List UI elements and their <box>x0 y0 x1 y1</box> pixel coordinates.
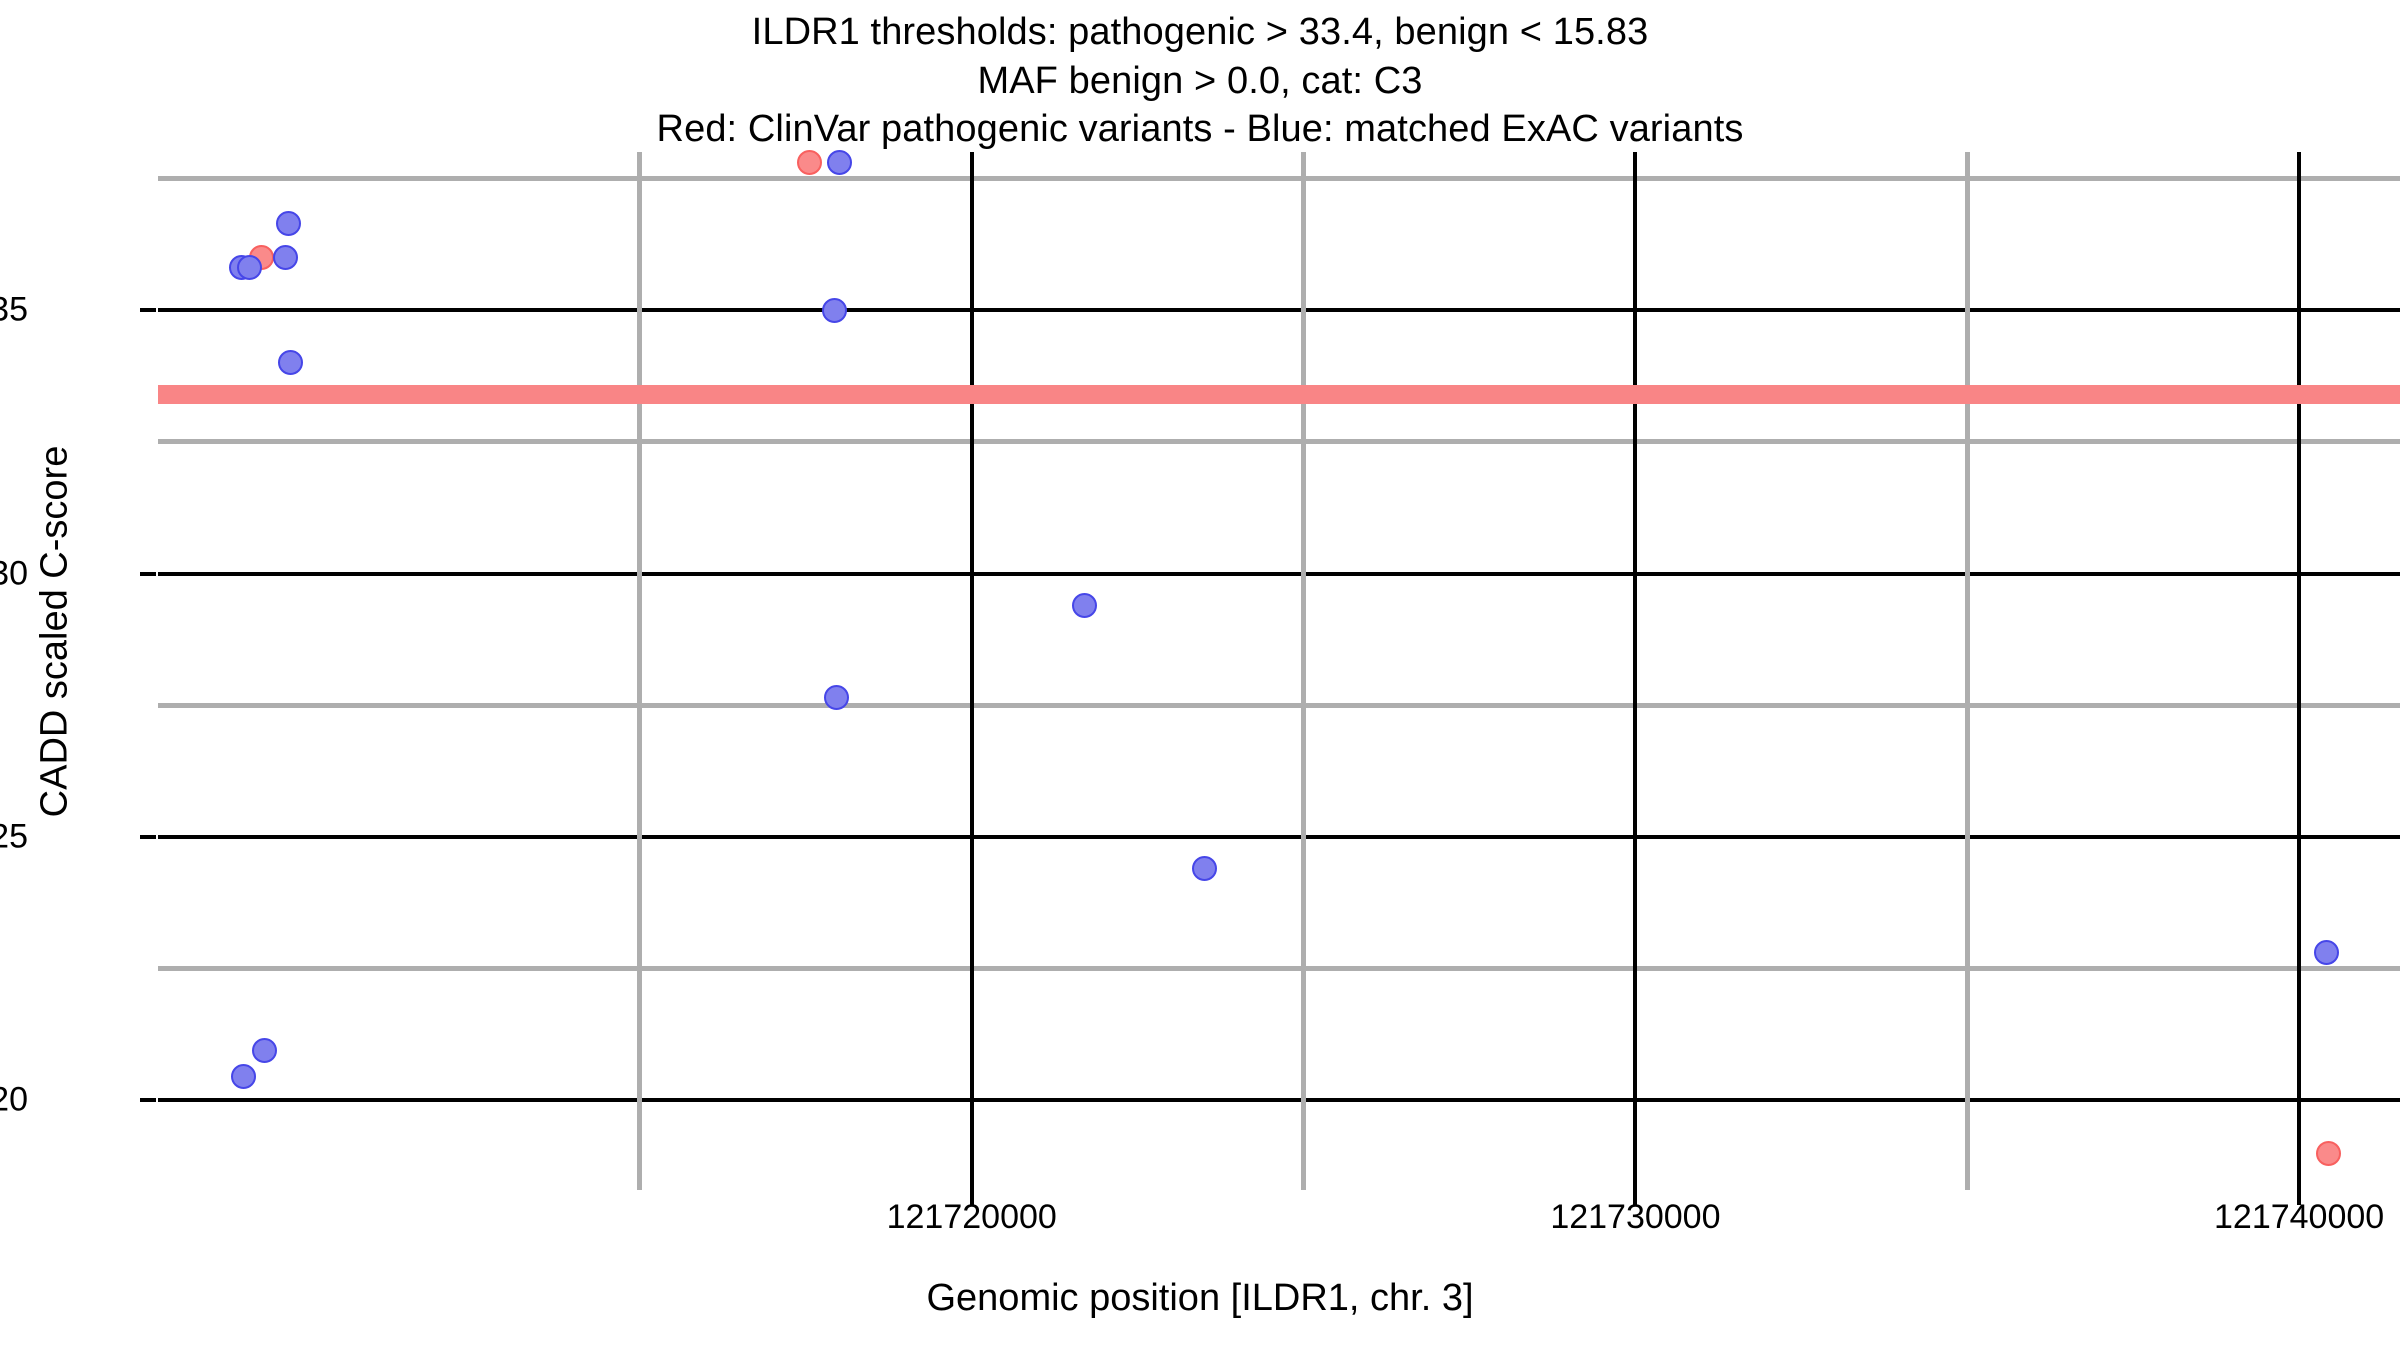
gridline-horizontal-minor <box>158 176 2400 181</box>
y-tick-label: 25 <box>0 817 28 856</box>
data-point-exac <box>278 350 303 375</box>
data-point-exac <box>1192 856 1217 881</box>
gridline-horizontal-major <box>158 308 2400 312</box>
gridline-horizontal-minor <box>158 703 2400 708</box>
gridline-vertical-minor <box>637 152 642 1190</box>
scatter-plot-figure: ILDR1 thresholds: pathogenic > 33.4, ben… <box>0 0 2400 1350</box>
x-tick-mark <box>970 1190 974 1205</box>
y-tick-mark <box>140 1098 156 1102</box>
gridline-vertical-minor <box>1301 152 1306 1190</box>
gridline-horizontal-minor <box>158 966 2400 971</box>
gridline-vertical-major <box>970 152 974 1190</box>
y-tick-label: 30 <box>0 554 28 593</box>
data-point-exac <box>824 685 849 710</box>
y-tick-mark <box>140 835 156 839</box>
data-point-exac <box>276 211 301 236</box>
y-tick-mark <box>140 308 156 312</box>
x-tick-mark <box>1633 1190 1637 1205</box>
x-tick-mark <box>2297 1190 2301 1205</box>
data-point-exac <box>231 1064 256 1089</box>
y-tick-label: 20 <box>0 1081 28 1120</box>
y-tick-label: 35 <box>0 291 28 330</box>
y-axis-title: CADD scaled C-score <box>34 132 77 1132</box>
data-point-exac <box>2314 940 2339 965</box>
data-point-pathogenic <box>2316 1141 2341 1166</box>
data-point-exac <box>827 150 852 175</box>
data-point-pathogenic <box>797 150 822 175</box>
x-axis-title: Genomic position [ILDR1, chr. 3] <box>0 1277 2400 1320</box>
gridline-horizontal-major <box>158 1098 2400 1102</box>
x-tick-label: 121740000 <box>2129 1198 2400 1237</box>
pathogenic-threshold-band <box>158 385 2400 404</box>
data-point-exac <box>273 245 298 270</box>
data-point-exac <box>1072 593 1097 618</box>
gridline-vertical-major <box>1633 152 1637 1190</box>
data-point-exac <box>252 1038 277 1063</box>
data-point-exac <box>237 255 262 280</box>
title-line-3: Red: ClinVar pathogenic variants - Blue:… <box>0 105 2400 154</box>
gridline-vertical-minor <box>1965 152 1970 1190</box>
gridline-horizontal-major <box>158 835 2400 839</box>
title-line-1: ILDR1 thresholds: pathogenic > 33.4, ben… <box>0 8 2400 57</box>
gridline-vertical-major <box>2297 152 2301 1190</box>
figure-title: ILDR1 thresholds: pathogenic > 33.4, ben… <box>0 8 2400 154</box>
gridline-horizontal-major <box>158 572 2400 576</box>
title-line-2: MAF benign > 0.0, cat: C3 <box>0 57 2400 106</box>
data-point-exac <box>822 298 847 323</box>
plot-area <box>158 152 2400 1190</box>
gridline-horizontal-minor <box>158 439 2400 444</box>
y-tick-mark <box>140 572 156 576</box>
